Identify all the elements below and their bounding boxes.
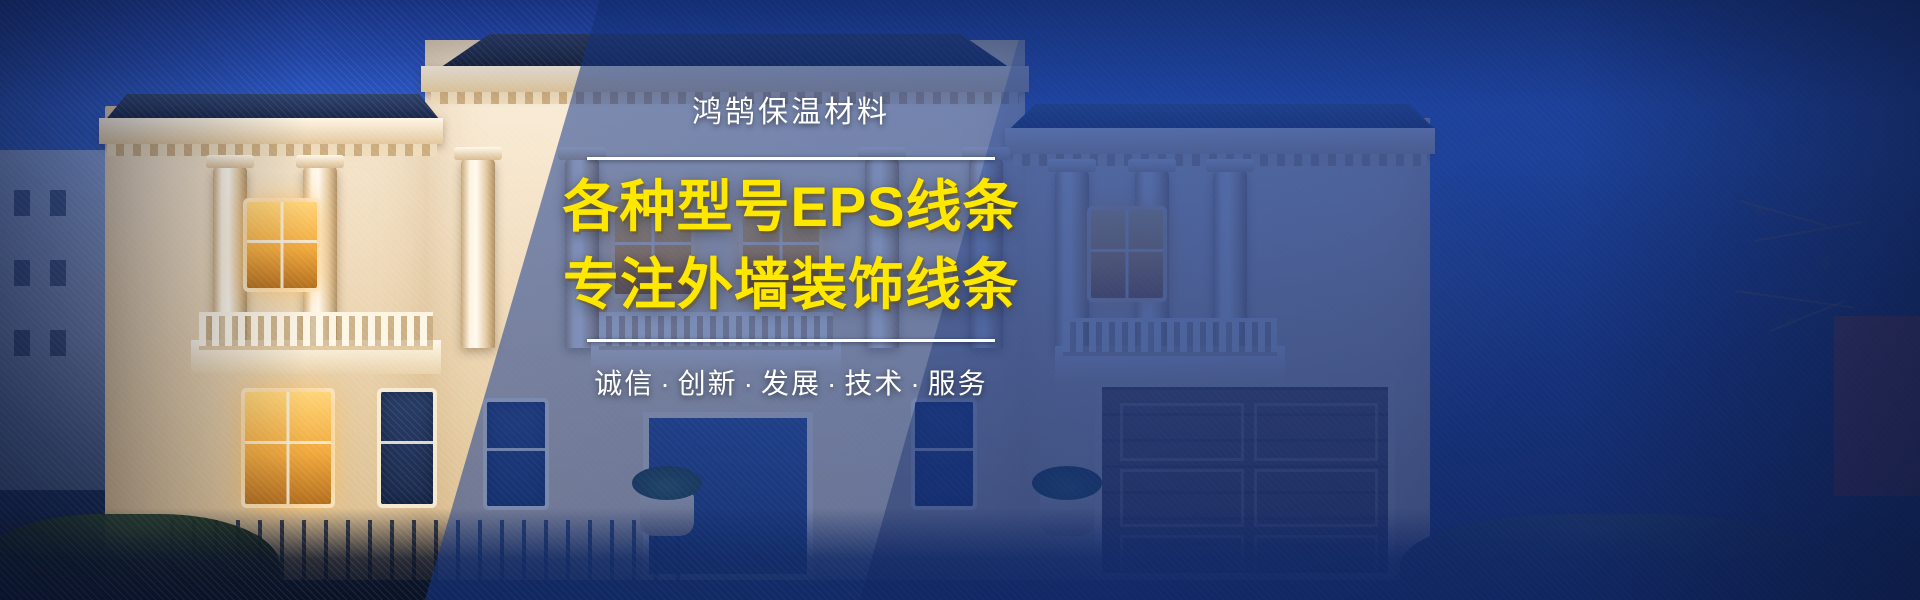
- window-lit: [247, 202, 317, 288]
- balustrade-right: [1063, 318, 1277, 356]
- tagline-separator: ·: [654, 368, 677, 399]
- tagline-separator: ·: [904, 368, 927, 399]
- tagline-item: 创新: [678, 368, 738, 399]
- foreground-ground: [0, 508, 1920, 600]
- dentil-left: [107, 144, 437, 156]
- cornice-right: [1005, 128, 1435, 154]
- tagline-separator: ·: [821, 368, 844, 399]
- cornice-left: [99, 118, 443, 144]
- hero-banner: 鸿鹄保温材料 各种型号EPS线条 专注外墙装饰线条 诚信·创新·发展·技术·服务: [0, 0, 1920, 600]
- cornice-center: [421, 66, 1029, 92]
- window: [915, 402, 973, 506]
- window-lit: [1091, 210, 1163, 298]
- headline-line-1: 各种型号EPS线条: [556, 176, 1026, 239]
- tagline-item: 服务: [928, 368, 988, 399]
- banner-text-block: 鸿鹄保温材料 各种型号EPS线条 专注外墙装饰线条 诚信·创新·发展·技术·服务: [556, 96, 1026, 402]
- roof-right: [1000, 104, 1440, 130]
- headline-line-2: 专注外墙装饰线条: [556, 254, 1026, 317]
- tagline-separator: ·: [738, 368, 761, 399]
- tagline: 诚信·创新·发展·技术·服务: [556, 362, 1026, 402]
- balustrade-left: [199, 312, 433, 350]
- tagline-item: 诚信: [594, 368, 654, 399]
- window: [381, 392, 433, 504]
- divider-bottom: [587, 339, 995, 342]
- tagline-item: 发展: [761, 368, 821, 399]
- bare-tree: [1730, 170, 1880, 380]
- roof-center: [415, 34, 1035, 68]
- roof-left: [95, 94, 447, 120]
- window-lit: [245, 392, 331, 504]
- side-building: [0, 150, 110, 490]
- tagline-item: 技术: [844, 368, 904, 399]
- brand-name: 鸿鹄保温材料: [556, 96, 1026, 131]
- column: [461, 158, 495, 348]
- divider-top: [587, 157, 995, 160]
- window: [487, 402, 545, 506]
